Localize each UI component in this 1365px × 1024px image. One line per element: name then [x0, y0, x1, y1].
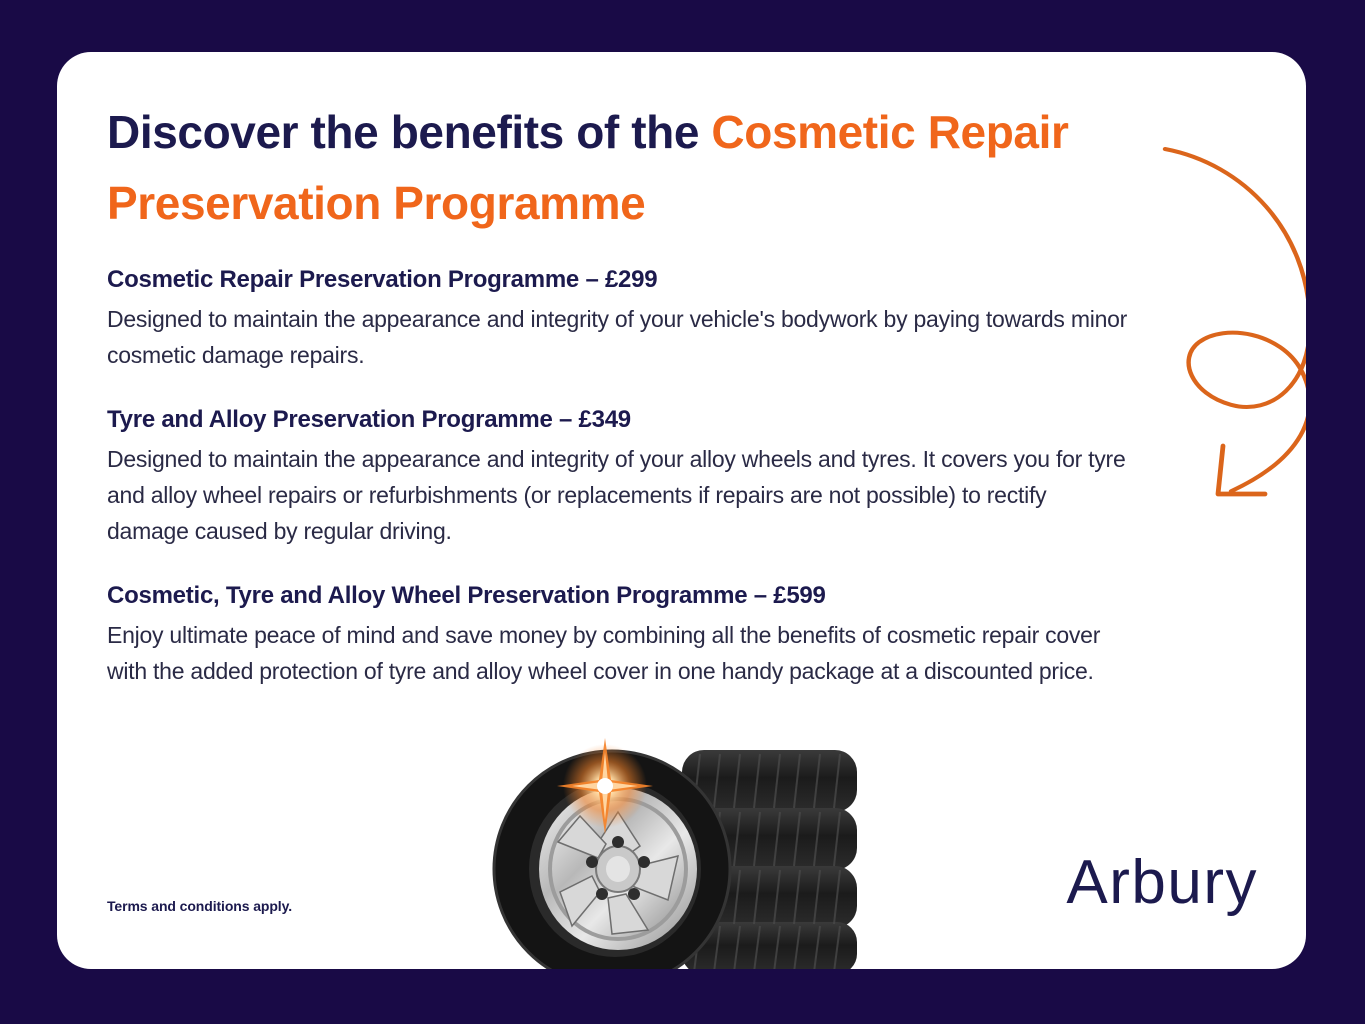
curved-loop-arrow-icon	[1107, 100, 1306, 520]
terms-text: Terms and conditions apply.	[107, 898, 292, 914]
headline-line1-accent: Cosmetic	[711, 106, 915, 158]
stacked-tyres-with-alloy-wheel-image	[472, 734, 872, 969]
section-title: Cosmetic Repair Preservation Programme –…	[107, 265, 1129, 295]
content-card: Discover the benefits of the Cosmetic Re…	[57, 52, 1306, 969]
poster-canvas: Discover the benefits of the Cosmetic Re…	[0, 0, 1365, 1024]
section-title: Tyre and Alloy Preservation Programme – …	[107, 405, 1129, 435]
list-item: Tyre and Alloy Preservation Programme – …	[107, 405, 1129, 550]
headline-line1-navy: Discover the benefits of the	[107, 106, 711, 158]
benefits-list: Cosmetic Repair Preservation Programme –…	[107, 265, 1129, 689]
section-title: Cosmetic, Tyre and Alloy Wheel Preservat…	[107, 581, 1129, 611]
list-item: Cosmetic, Tyre and Alloy Wheel Preservat…	[107, 581, 1129, 690]
arbury-logo: Arbury	[1066, 852, 1258, 914]
list-item: Cosmetic Repair Preservation Programme –…	[107, 265, 1129, 374]
section-body: Designed to maintain the appearance and …	[107, 301, 1129, 374]
section-body: Designed to maintain the appearance and …	[107, 441, 1129, 550]
section-body: Enjoy ultimate peace of mind and save mo…	[107, 617, 1129, 690]
page-title: Discover the benefits of the Cosmetic Re…	[107, 97, 1117, 240]
